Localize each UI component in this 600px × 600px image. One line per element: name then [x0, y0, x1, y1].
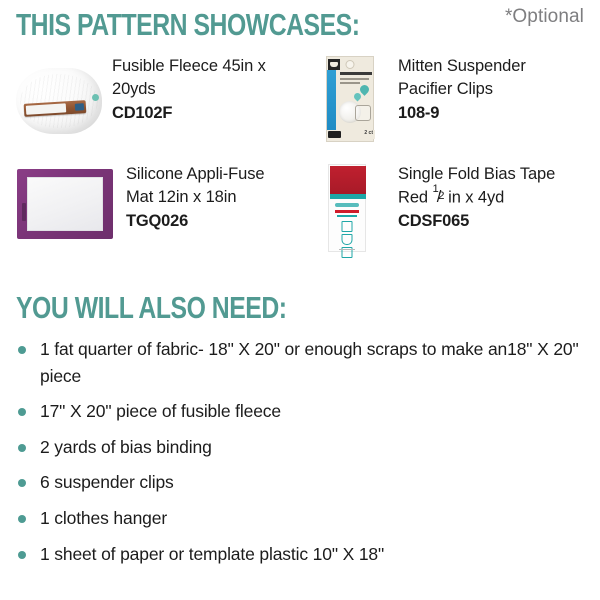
- mitten-suspender-pacifier-clips-package-image: 2 ct: [318, 56, 380, 144]
- product-thumbnail-wrap: [318, 162, 398, 254]
- list-item: 1 clothes hanger: [16, 505, 586, 532]
- needs-list: 1 fat quarter of fabric- 18" X 20" or en…: [16, 336, 586, 576]
- product-card-mitten-suspender-clips: 2 ct Mitten Suspender Pacifier Clips 108…: [318, 54, 600, 144]
- product-name-line2: Red 1/2in x 4yd: [398, 186, 600, 210]
- list-item: 1 fat quarter of fabric- 18" X 20" or en…: [16, 336, 586, 389]
- package-title-line: [335, 210, 359, 213]
- needs-heading: YOU WILL ALSO NEED:: [16, 292, 287, 323]
- product-thumbnail-wrap: [14, 162, 126, 244]
- care-symbol-icon: [342, 234, 353, 245]
- product-sku: CDSF065: [398, 210, 600, 233]
- package-blue-strip: [327, 70, 336, 132]
- product-grid: Fusible Fleece 45in x 20yds CD102F: [0, 52, 600, 280]
- product-sku: CD102F: [112, 102, 314, 125]
- list-item: 1 sheet of paper or template plastic 10"…: [16, 541, 586, 568]
- product-text: Mitten Suspender Pacifier Clips 108-9: [398, 54, 600, 125]
- fusible-fleece-roll-image: [14, 58, 106, 144]
- package-footer: 2 ct: [327, 130, 375, 139]
- package-sub-line-2: [340, 82, 360, 84]
- product-name-line2: 20yds: [112, 78, 314, 101]
- teal-divider-bar: [330, 194, 366, 199]
- red-tape-window: [330, 166, 366, 194]
- mat-side-tab: [22, 203, 26, 221]
- single-fold-bias-tape-package-image: [318, 164, 380, 254]
- product-sku: TGQ026: [126, 210, 314, 233]
- product-thumbnail-wrap: 2 ct: [318, 54, 398, 144]
- footer-black-block: [328, 131, 341, 138]
- product-text: Single Fold Bias Tape Red 1/2in x 4yd CD…: [398, 162, 600, 234]
- brand-logo-icon: [335, 203, 359, 207]
- product-name-line1: Fusible Fleece 45in x: [112, 55, 314, 78]
- list-item: 2 yards of bias binding: [16, 434, 586, 461]
- blister-package: 2 ct: [326, 56, 374, 142]
- fraction-one-half: 1/2: [432, 186, 448, 203]
- product-card-silicone-appli-fuse-mat: Silicone Appli-Fuse Mat 12in x 18in TGQ0…: [14, 162, 314, 244]
- product-name-line1: Mitten Suspender: [398, 55, 600, 78]
- fraction-denominator: 2: [438, 189, 444, 205]
- clip-outline: [355, 105, 371, 121]
- product-name-line2: Pacifier Clips: [398, 78, 600, 101]
- product-sku: 108-9: [398, 102, 600, 125]
- package-footer-line: [339, 249, 355, 251]
- footer-qty-mark: 2 ct: [364, 130, 373, 136]
- list-item: 17" X 20" piece of fusible fleece: [16, 398, 586, 425]
- product-name-line2-post: in x 4yd: [448, 189, 504, 207]
- hang-hole-icon: [346, 60, 355, 69]
- product-text: Fusible Fleece 45in x 20yds CD102F: [112, 54, 314, 125]
- product-name-line2: Mat 12in x 18in: [126, 186, 314, 209]
- product-card-fusible-fleece: Fusible Fleece 45in x 20yds CD102F: [14, 54, 314, 144]
- optional-note: *Optional: [505, 6, 584, 28]
- package-sub-line: [337, 215, 357, 217]
- package-title-line: [340, 72, 372, 75]
- mat-clear-surface: [27, 177, 103, 231]
- product-name-line1: Silicone Appli-Fuse: [126, 163, 314, 186]
- care-symbol-icon: [342, 221, 353, 232]
- product-name-line2-pre: Red: [398, 189, 432, 207]
- product-name-line1: Single Fold Bias Tape: [398, 163, 600, 186]
- package-sub-line-1: [340, 78, 369, 80]
- silicone-appli-fuse-mat-image: [14, 166, 118, 244]
- showcase-heading: THIS PATTERN SHOWCASES:: [16, 9, 360, 40]
- list-item: 6 suspender clips: [16, 469, 586, 496]
- brand-logo-icon: [328, 59, 340, 70]
- product-thumbnail-wrap: [14, 54, 112, 144]
- bias-tape-package: [328, 164, 366, 252]
- mat-purple-frame: [17, 169, 113, 239]
- product-text: Silicone Appli-Fuse Mat 12in x 18in TGQ0…: [126, 162, 314, 233]
- product-card-single-fold-bias-tape: Single Fold Bias Tape Red 1/2in x 4yd CD…: [318, 162, 600, 254]
